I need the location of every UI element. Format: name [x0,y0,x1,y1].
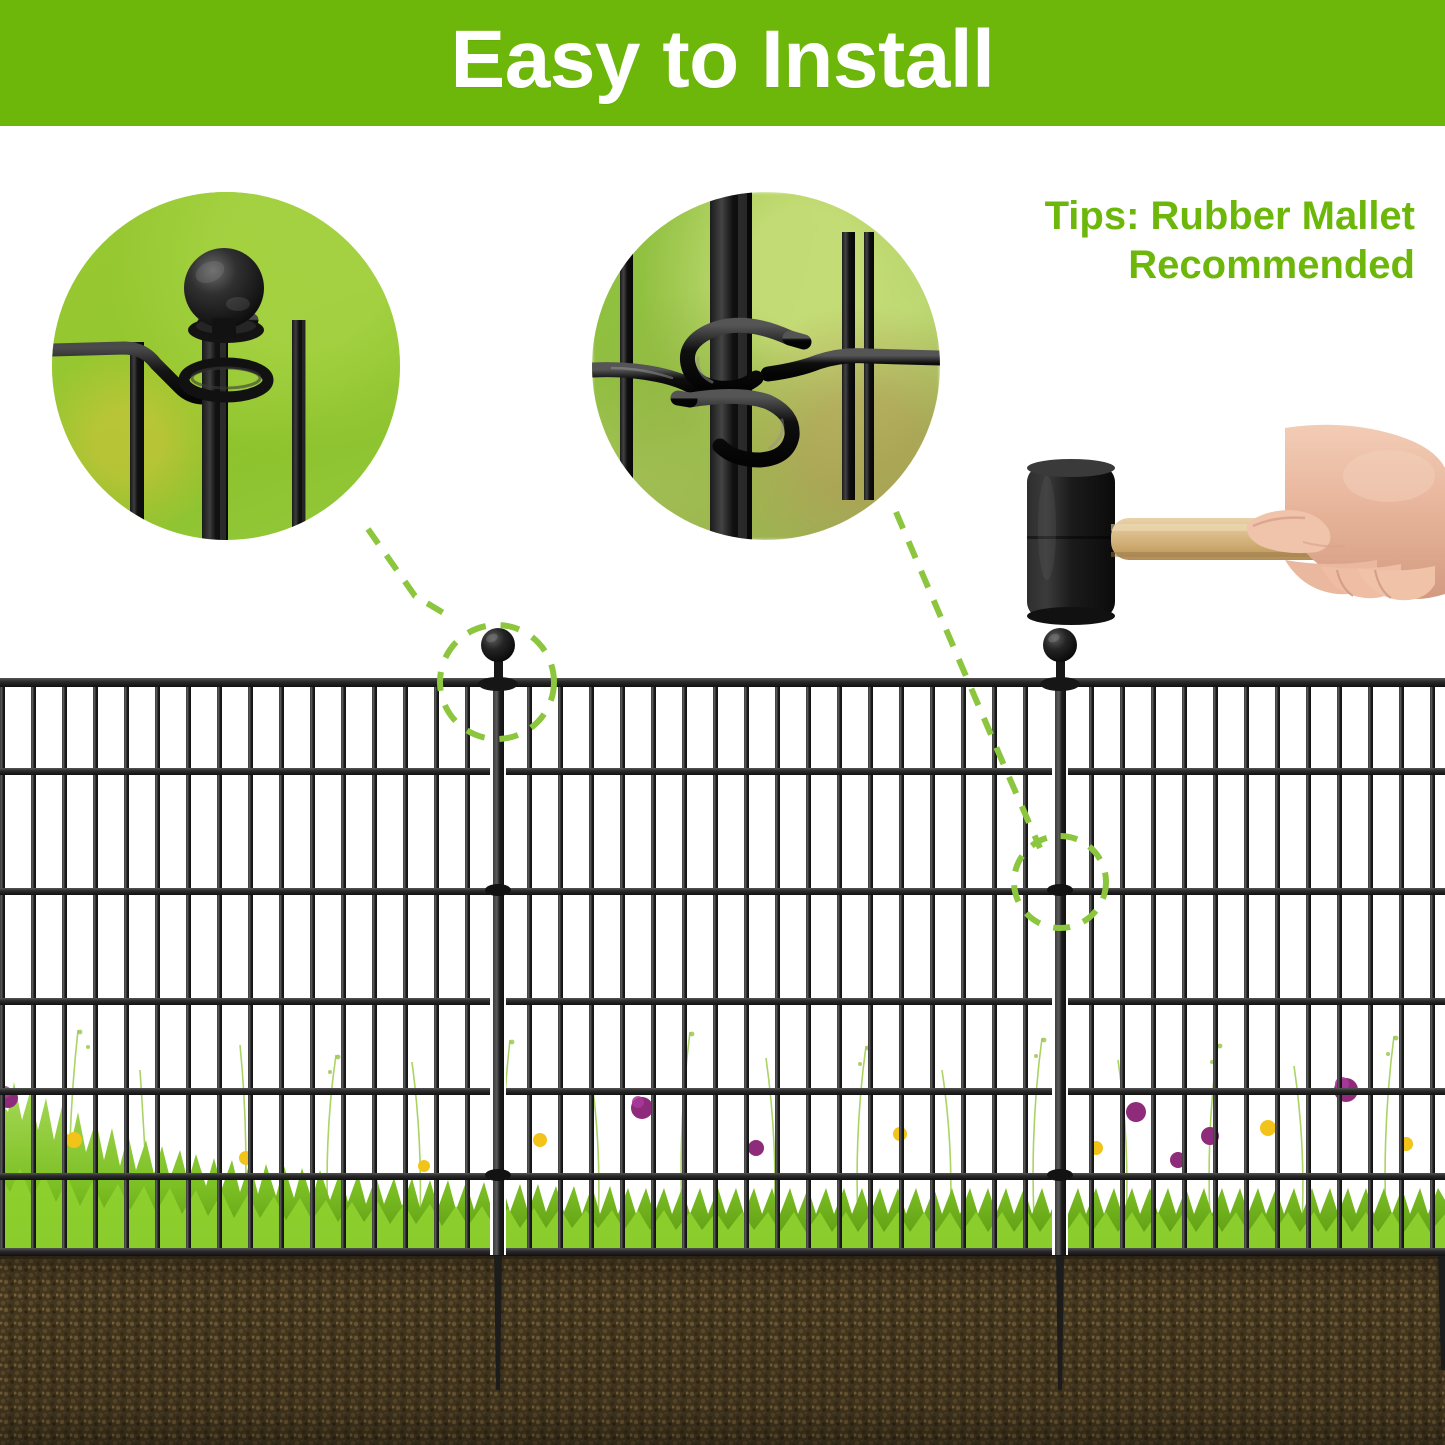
callout-circle-connector [592,192,940,540]
fence-post-2 [1040,628,1080,1255]
fence-grid [0,628,1445,1256]
tips-line-2: Recommended [905,241,1415,290]
grass-band [0,1030,1445,1255]
fence-post-1 [478,628,518,1255]
tips-text: Tips: Rubber Mallet Recommended [905,192,1415,290]
callout-circle-finial [52,192,400,540]
connector-detail-illustration [592,192,940,540]
tips-line-1-rest: Rubber Mallet [1139,194,1415,238]
page-title: Easy to Install [0,0,1445,126]
tips-label: Tips: [1045,194,1140,238]
hand [1247,425,1445,600]
tips-line-1: Tips: Rubber Mallet [905,192,1415,241]
header-banner: Easy to Install [0,0,1445,126]
finial-detail-illustration [52,192,400,540]
infographic-canvas: Easy to Install Tips: Rubber Mallet Reco… [0,0,1445,1445]
fence-scene [0,600,1445,1445]
soil-layer [0,1255,1445,1445]
fence-illustration [0,600,1445,1445]
